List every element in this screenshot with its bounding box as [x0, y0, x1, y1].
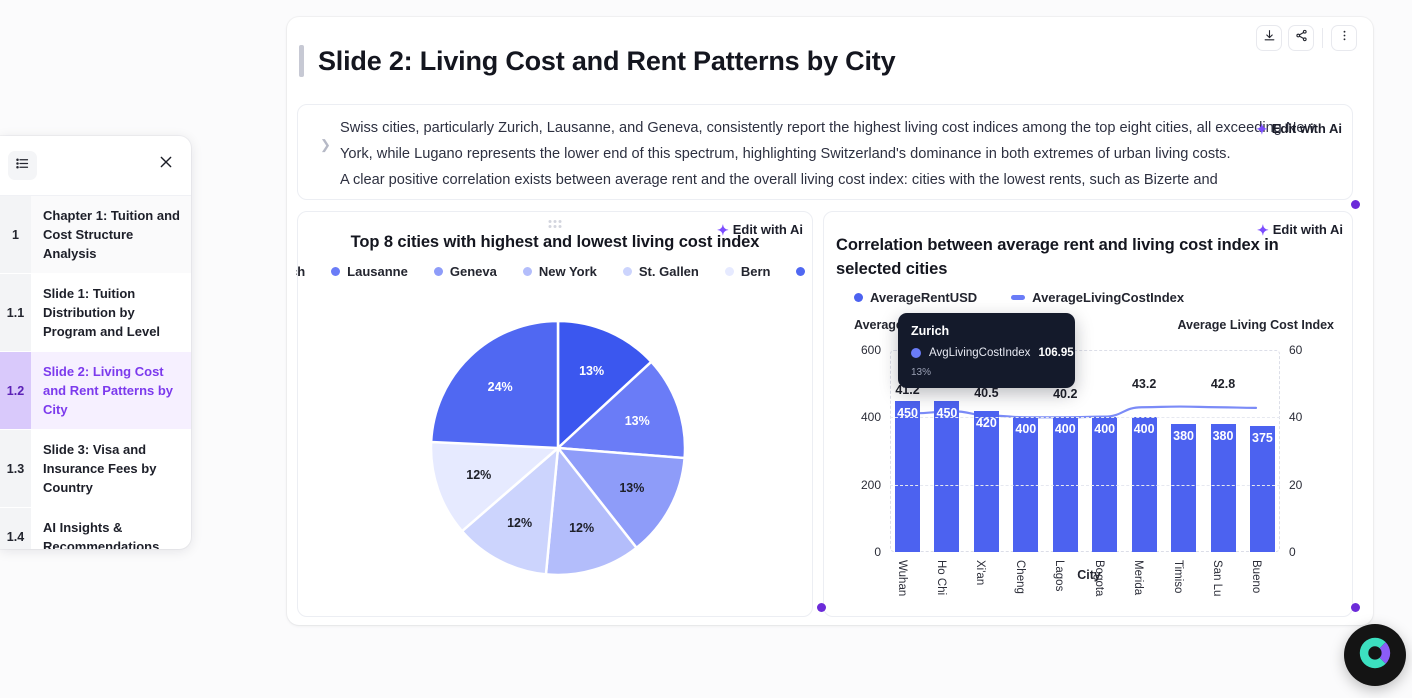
y-axis-title-right: Average Living Cost Index	[1177, 318, 1334, 332]
legend-dot-icon	[434, 267, 443, 276]
pie-svg[interactable]	[428, 318, 688, 578]
sidebar-header	[0, 136, 191, 196]
bar-7[interactable]: 380	[1171, 424, 1196, 552]
y-tick-left: 0	[874, 545, 881, 559]
sidebar-item-number: 1.3	[0, 430, 31, 507]
share-button[interactable]	[1288, 25, 1314, 51]
pie-chart-card: ✦ Edit with Ai Top 8 cities with highest…	[297, 211, 813, 617]
line-point-label-8: 42.8	[1200, 377, 1246, 391]
tooltip-row: AvgLivingCostIndex 106.95	[911, 347, 1062, 359]
download-button[interactable]	[1256, 25, 1282, 51]
sidebar-close-button[interactable]	[158, 154, 174, 175]
y-tick-left: 600	[861, 343, 881, 357]
sidebar-item-0[interactable]: 1Chapter 1: Tuition and Cost Structure A…	[0, 196, 191, 274]
sparkle-icon: ✦	[1256, 122, 1268, 136]
gridline	[890, 417, 1280, 418]
summary-text: Swiss cities, particularly Zurich, Lausa…	[340, 115, 1338, 193]
combo-chart-title: Correlation between average rent and liv…	[836, 233, 1314, 281]
bar-value-label: 380	[1211, 429, 1236, 443]
legend-dot-icon	[331, 267, 340, 276]
gridline	[890, 485, 1280, 486]
bar-column-5[interactable]: 400Bogota	[1092, 350, 1117, 552]
pie-legend-item-5[interactable]: Bern	[725, 264, 771, 279]
sidebar-item-number: 1.2	[0, 352, 31, 429]
y-tick-right: 0	[1289, 545, 1296, 559]
legend-dot-icon	[725, 267, 734, 276]
edit-with-ai-label: Edit with Ai	[1273, 222, 1343, 237]
y-tick-right: 40	[1289, 410, 1302, 424]
legend-item-rent[interactable]: AverageRentUSD	[854, 290, 977, 305]
legend-dot-icon	[623, 267, 632, 276]
bar-value-label: 375	[1250, 431, 1275, 445]
edit-with-ai-pie-button[interactable]: ✦ Edit with Ai	[717, 222, 803, 237]
pie-legend-item-3[interactable]: New York	[523, 264, 597, 279]
edit-with-ai-combo-button[interactable]: ✦ Edit with Ai	[1257, 222, 1343, 237]
legend-label: AverageRentUSD	[870, 290, 977, 305]
bar-9[interactable]: 375	[1250, 426, 1275, 552]
chevron-right-icon[interactable]: ❯	[320, 137, 331, 153]
pie-legend-item-2[interactable]: Geneva	[434, 264, 497, 279]
pie-legend: chLausanneGenevaNew YorkSt. GallenBern	[296, 264, 820, 279]
pie-legend-item-4[interactable]: St. Gallen	[623, 264, 699, 279]
pie-legend-item-1[interactable]: Lausanne	[331, 264, 408, 279]
legend-label: Lausanne	[347, 264, 408, 279]
tooltip-value: 106.95	[1038, 347, 1073, 359]
more-vertical-icon	[1338, 29, 1351, 47]
legend-line-icon	[1011, 295, 1025, 300]
sparkle-icon: ✦	[717, 223, 729, 237]
sidebar-item-label: Slide 2: Living Cost and Rent Patterns b…	[31, 352, 191, 429]
summary-paragraph-2: A clear positive correlation exists betw…	[340, 167, 1338, 193]
sidebar-item-label: AI Insights & Recommendations	[31, 508, 191, 549]
legend-item-living-cost[interactable]: AverageLivingCostIndex	[1011, 290, 1184, 305]
bar-column-8[interactable]: 42.8380San Lu	[1211, 350, 1236, 552]
tooltip-series-label: AvgLivingCostIndex	[929, 347, 1030, 359]
document-actions	[1256, 25, 1357, 51]
sidebar-item-label: Slide 3: Visa and Insurance Fees by Coun…	[31, 430, 191, 507]
bar-8[interactable]: 380	[1211, 424, 1236, 552]
line-point-label-6: 43.2	[1121, 377, 1167, 391]
list-icon	[15, 156, 30, 176]
edit-with-ai-summary-button[interactable]: ✦ Edit with Ai	[1256, 121, 1342, 136]
bar-1[interactable]: 450	[934, 401, 959, 553]
legend-label: AverageLivingCostIndex	[1032, 290, 1184, 305]
summary-paragraph-1: Swiss cities, particularly Zurich, Lausa…	[340, 115, 1338, 167]
legend-label: ch	[296, 264, 305, 279]
bar-column-9[interactable]: 375Bueno	[1250, 350, 1275, 552]
drag-handle[interactable]	[549, 220, 562, 228]
pie-legend-item-0[interactable]: ch	[296, 264, 305, 279]
summary-block[interactable]: ❯ ✦ Edit with Ai Swiss cities, particula…	[297, 104, 1353, 200]
pie-slice-6[interactable]	[431, 321, 558, 448]
pie-legend-item-6[interactable]	[796, 267, 805, 276]
resize-handle-left-card[interactable]	[817, 603, 826, 612]
sidebar-item-1[interactable]: 1.1Slide 1: Tuition Distribution by Prog…	[0, 274, 191, 352]
resize-handle-top-right[interactable]	[1351, 200, 1360, 209]
title-accent-bar	[299, 45, 304, 77]
legend-label: Bern	[741, 264, 771, 279]
more-options-button[interactable]	[1331, 25, 1357, 51]
bar-2[interactable]: 420	[974, 411, 999, 552]
bar-value-label: 400	[1132, 422, 1157, 436]
bar-column-7[interactable]: 380Timiso	[1171, 350, 1196, 552]
tooltip-title: Zurich	[911, 324, 1062, 338]
sidebar-item-label: Chapter 1: Tuition and Cost Structure An…	[31, 196, 191, 273]
legend-label: New York	[539, 264, 597, 279]
actions-divider	[1322, 28, 1323, 48]
resize-handle-right-card[interactable]	[1351, 603, 1360, 612]
sidebar-item-number: 1.1	[0, 274, 31, 351]
bar-value-label: 400	[1092, 422, 1117, 436]
legend-label: Geneva	[450, 264, 497, 279]
edit-with-ai-label: Edit with Ai	[1272, 121, 1342, 136]
bar-column-6[interactable]: 43.2400Merida	[1132, 350, 1157, 552]
document-panel: Slide 2: Living Cost and Rent Patterns b…	[287, 17, 1373, 625]
sidebar-item-number: 1.4	[0, 508, 31, 549]
tooltip-dot-icon	[911, 348, 921, 358]
x-axis-title: City	[836, 568, 1342, 582]
pie-tooltip: Zurich AvgLivingCostIndex 106.95 13%	[898, 313, 1075, 388]
y-tick-left: 200	[861, 478, 881, 492]
assistant-logo-icon	[1356, 634, 1394, 677]
legend-dot-icon	[854, 293, 863, 302]
pie-chart[interactable]: 13%13%13%12%12%12%24%	[428, 318, 688, 578]
sidebar-item-list: 1Chapter 1: Tuition and Cost Structure A…	[0, 196, 191, 549]
tooltip-percent: 13%	[911, 367, 1062, 378]
y-tick-right: 20	[1289, 478, 1302, 492]
download-icon	[1263, 29, 1276, 47]
legend-dot-icon	[796, 267, 805, 276]
close-icon	[158, 157, 174, 174]
assistant-fab-button[interactable]	[1344, 624, 1406, 686]
combo-legend: AverageRentUSD AverageLivingCostIndex	[854, 290, 1184, 305]
sidebar-item-2[interactable]: 1.2Slide 2: Living Cost and Rent Pattern…	[0, 352, 191, 430]
bar-value-label: 400	[1013, 422, 1038, 436]
outline-sidebar: 1Chapter 1: Tuition and Cost Structure A…	[0, 136, 191, 549]
bar-value-label: 400	[1053, 422, 1078, 436]
app-root: Slide 2: Living Cost and Rent Patterns b…	[0, 0, 1412, 698]
share-icon	[1295, 29, 1308, 47]
sidebar-item-number: 1	[0, 196, 31, 273]
bar-0[interactable]: 450	[895, 401, 920, 553]
y-tick-right: 60	[1289, 343, 1302, 357]
sidebar-item-label: Slide 1: Tuition Distribution by Program…	[31, 274, 191, 351]
page-title-row: Slide 2: Living Cost and Rent Patterns b…	[299, 45, 895, 77]
combo-chart-card: ✦ Edit with Ai Correlation between avera…	[823, 211, 1353, 617]
line-point-label-4: 40.2	[1042, 387, 1088, 401]
bar-value-label: 380	[1171, 429, 1196, 443]
sidebar-item-3[interactable]: 1.3Slide 3: Visa and Insurance Fees by C…	[0, 430, 191, 508]
legend-label: St. Gallen	[639, 264, 699, 279]
legend-dot-icon	[523, 267, 532, 276]
edit-with-ai-label: Edit with Ai	[733, 222, 803, 237]
sparkle-icon: ✦	[1257, 223, 1269, 237]
sidebar-toggle-button[interactable]	[8, 151, 37, 180]
y-tick-left: 400	[861, 410, 881, 424]
page-title: Slide 2: Living Cost and Rent Patterns b…	[318, 46, 895, 77]
sidebar-item-4[interactable]: 1.4AI Insights & Recommendations	[0, 508, 191, 549]
